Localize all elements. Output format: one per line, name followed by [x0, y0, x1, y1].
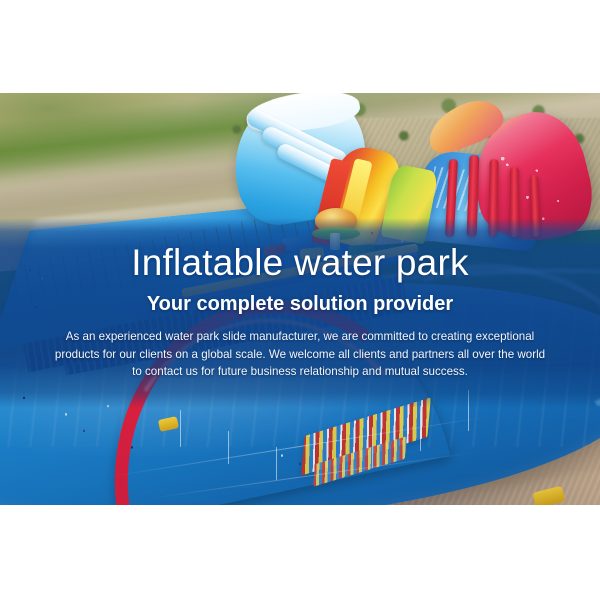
- banner-description: As an experienced water park slide manuf…: [26, 314, 574, 381]
- banner-text-block: Inflatable water park Your complete solu…: [0, 218, 600, 408]
- description-line-1: As an experienced water park slide manuf…: [26, 328, 574, 346]
- description-line-2: products for our clients on a global sca…: [26, 346, 574, 364]
- page-title: Inflatable water park: [0, 218, 600, 281]
- page-subtitle: Your complete solution provider: [0, 281, 600, 314]
- banner-image: Inflatable water park Your complete solu…: [0, 0, 600, 600]
- description-line-3: to contact us for future business relati…: [26, 363, 574, 381]
